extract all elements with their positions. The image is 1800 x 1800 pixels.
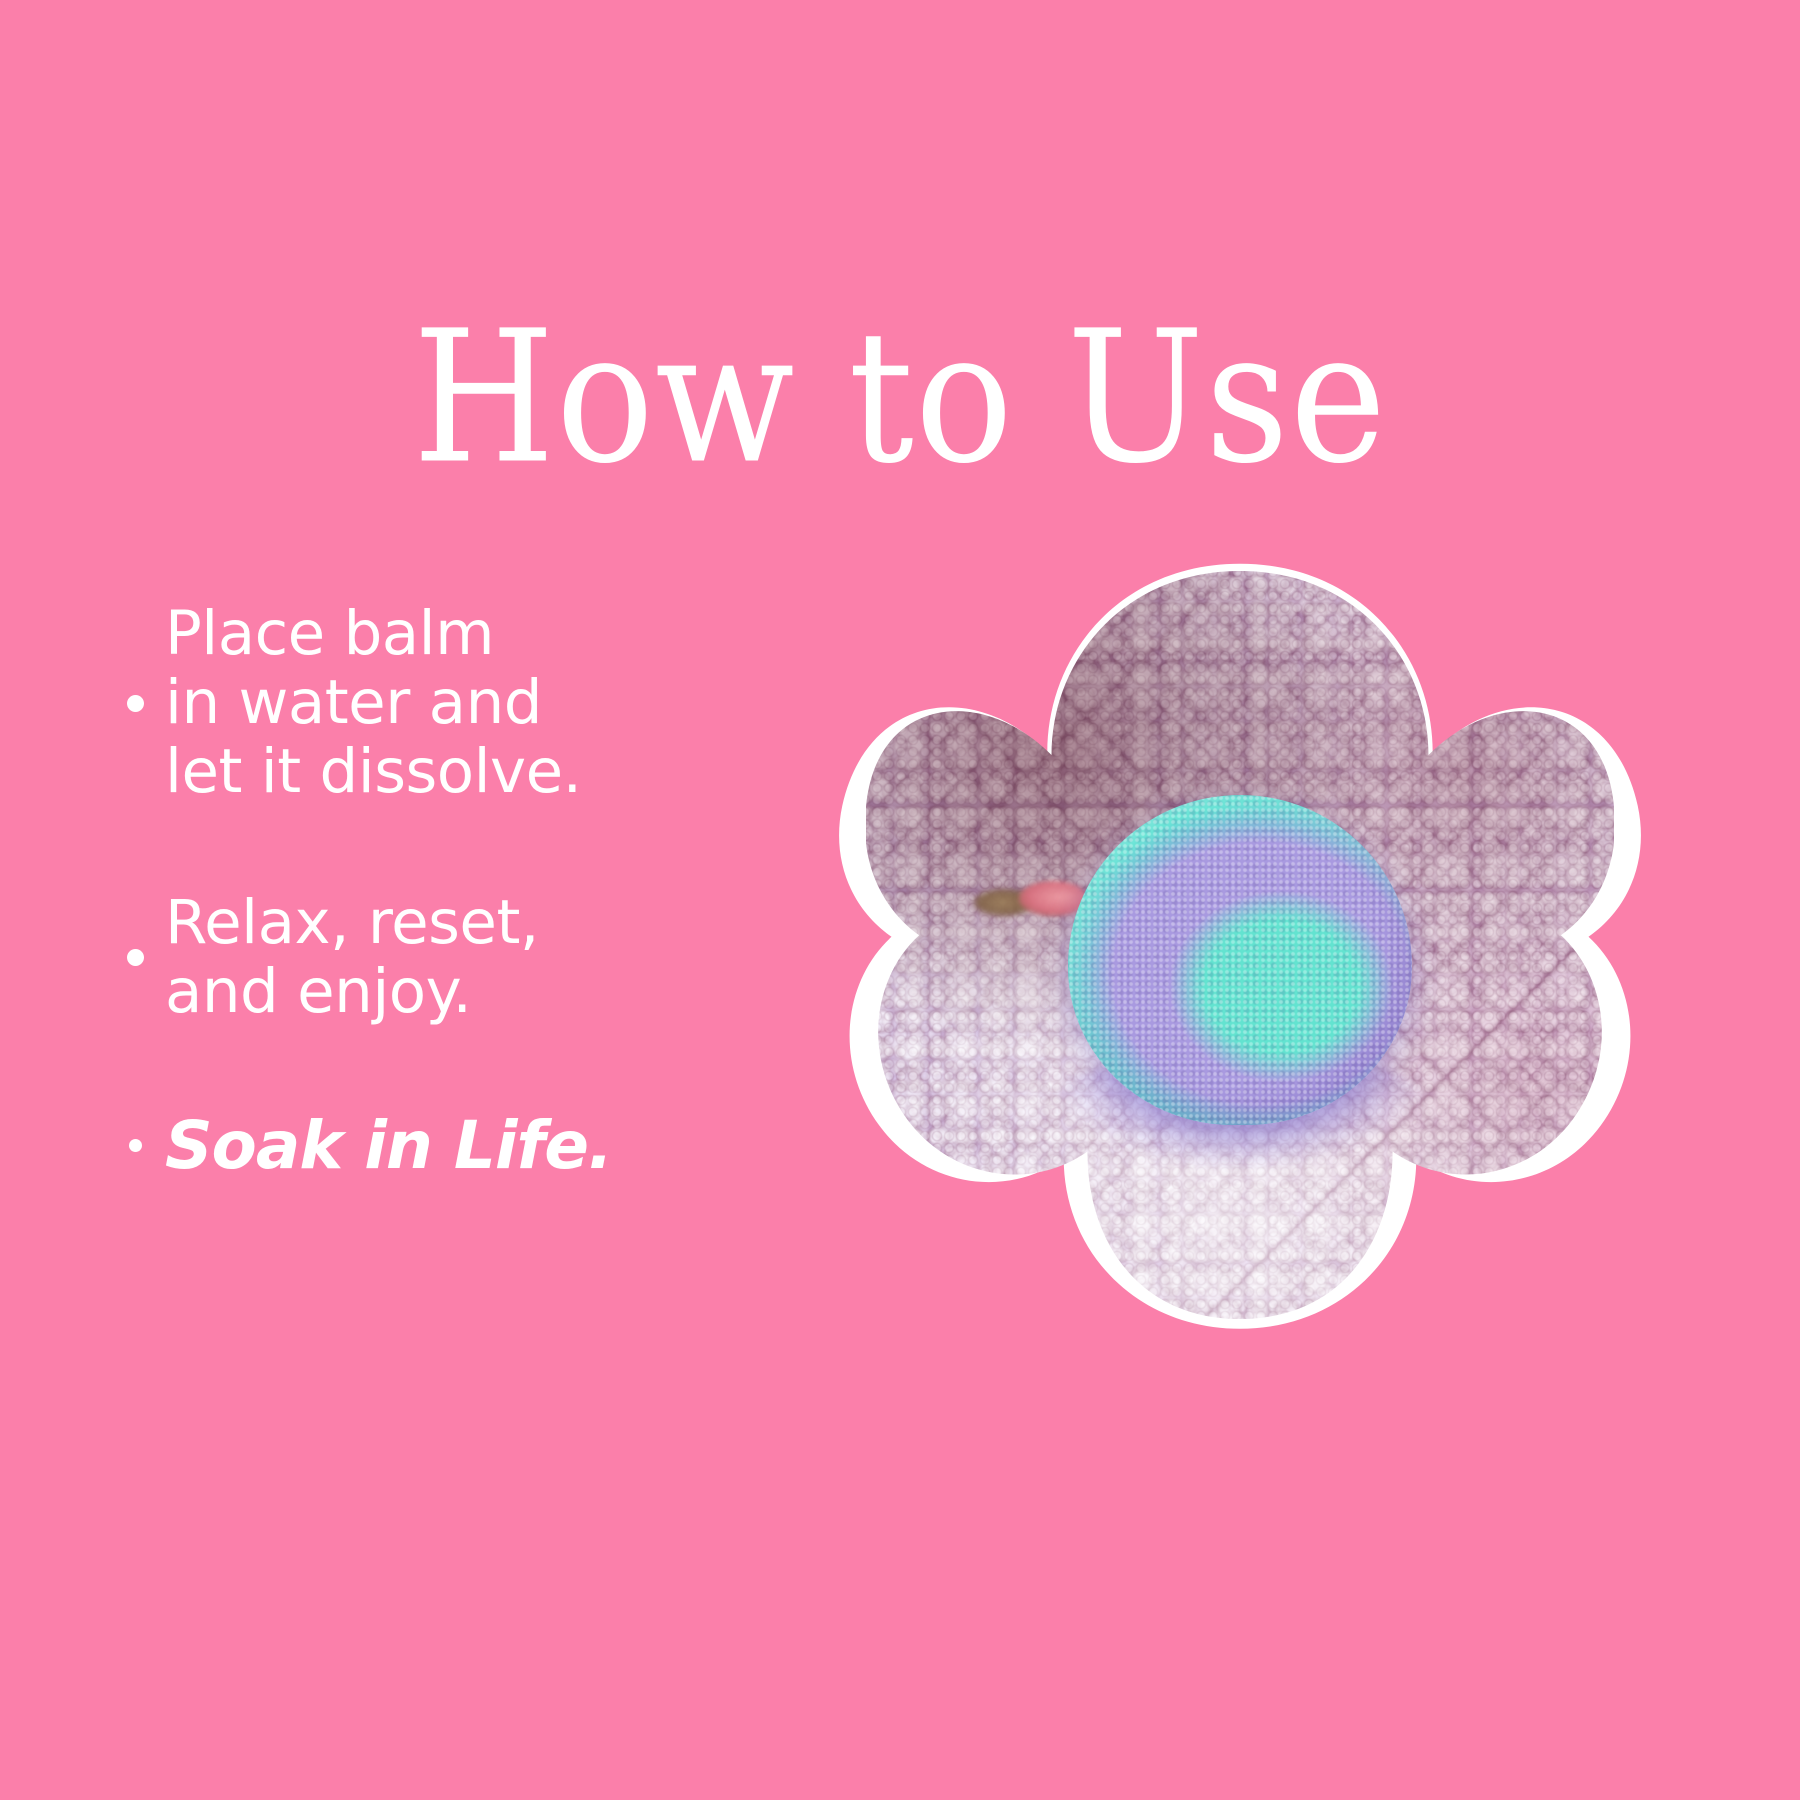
step-text: Place balm in water and let it dissolve. — [165, 600, 582, 807]
how-to-use-steps-list: Place balm in water and let it dissolve.… — [105, 600, 745, 1183]
list-item: Place balm in water and let it dissolve. — [105, 600, 745, 807]
step-text: Relax, reset, and enjoy. — [165, 889, 539, 1027]
bath-bomb-texture — [1068, 795, 1412, 1124]
flower-framed-photo — [830, 535, 1650, 1355]
poster-canvas: How to Use Place balm in water and let i… — [0, 0, 1800, 1800]
bullet-icon — [105, 695, 165, 712]
list-item: Soak in Life. — [105, 1109, 745, 1184]
page-title: How to Use — [0, 307, 1800, 490]
bullet-icon — [105, 949, 165, 966]
list-item: Relax, reset, and enjoy. — [105, 889, 745, 1027]
bullet-icon — [105, 1139, 165, 1152]
bath-bomb — [1068, 795, 1412, 1124]
step-text: Soak in Life. — [165, 1109, 612, 1184]
bath-bomb-photo — [866, 571, 1614, 1319]
